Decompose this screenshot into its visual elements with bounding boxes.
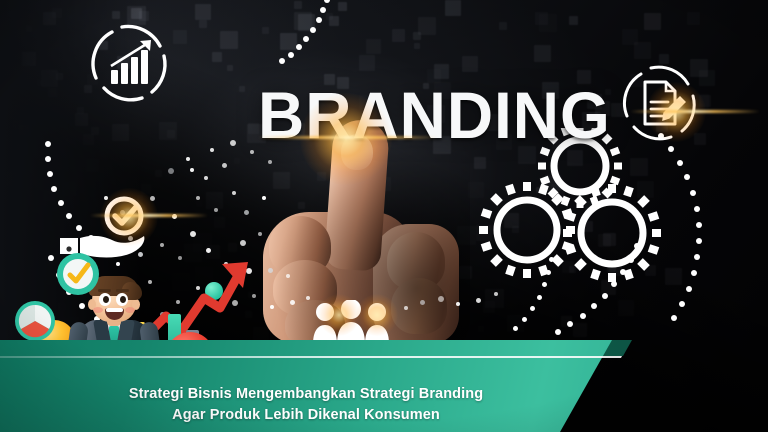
branding-banner-image: BRANDING: [0, 0, 768, 432]
document-edit-icon: [614, 58, 704, 148]
page-title: BRANDING: [258, 82, 611, 148]
people-group-icon: [312, 300, 390, 346]
gears-icon: [470, 128, 690, 288]
pie-chart-icon: [14, 300, 56, 342]
banner-caption-line2: Agar Produk Lebih Dikenal Konsumen: [0, 405, 612, 426]
banner-caption-line1: Strategi Bisnis Mengembangkan Strategi B…: [0, 384, 612, 405]
banner-caption-text: Strategi Bisnis Mengembangkan Strategi B…: [0, 384, 620, 426]
growth-chart-icon: [82, 16, 174, 108]
clock-check-icon: [56, 252, 100, 296]
